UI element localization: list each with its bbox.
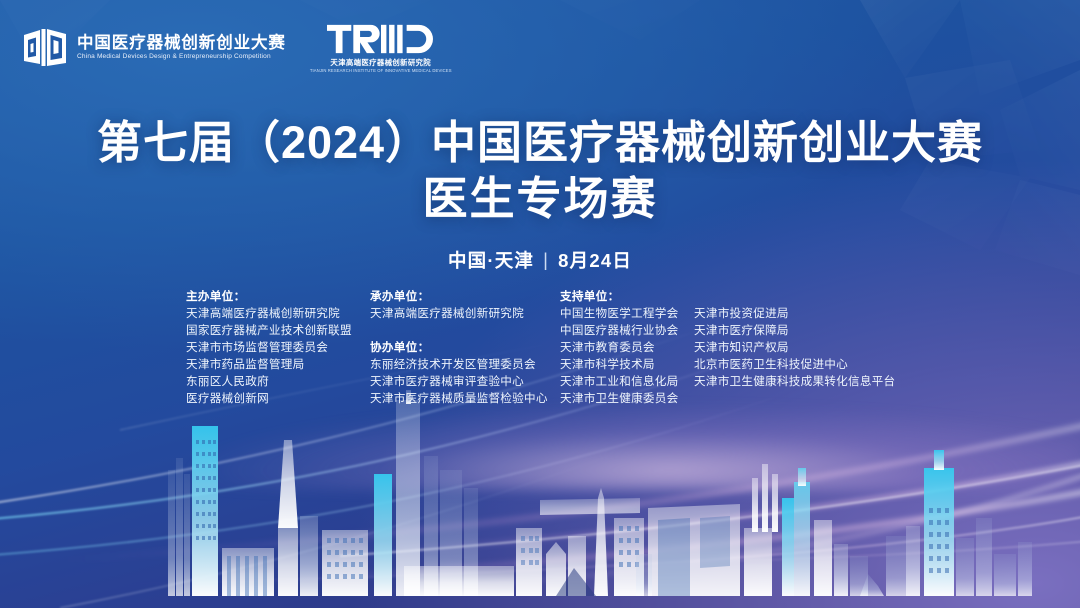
competition-logo-en: China Medical Devices Design & Entrepren… bbox=[77, 54, 290, 60]
org-item: 医疗器械创新网 bbox=[186, 390, 370, 407]
organizers-column-4: 天津市投资促进局 天津市医疗保障局 天津市知识产权局 北京市医药卫生科技促进中心… bbox=[694, 288, 904, 390]
competition-logo: 中国医疗器械创新创业大赛 China Medical Devices Desig… bbox=[22, 26, 286, 70]
org-item: 东丽区人民政府 bbox=[186, 373, 370, 390]
org-block: 天津市投资促进局 天津市医疗保障局 天津市知识产权局 北京市医药卫生科技促进中心… bbox=[694, 305, 904, 390]
event-date: 8月24日 bbox=[558, 247, 632, 273]
trimd-logo: 天津高端医疗器械创新研究院 TIANJIN RESEARCH INSTITUTE… bbox=[302, 22, 452, 74]
competition-logo-cn: 中国医疗器械创新创业大赛 bbox=[77, 35, 286, 52]
org-item: 国家医疗器械产业技术创新联盟 bbox=[186, 322, 370, 339]
org-item: 天津市卫生健康科技成果转化信息平台 bbox=[694, 373, 904, 390]
organizers-column-1: 主办单位： 天津高端医疗器械创新研究院 国家医疗器械产业技术创新联盟 天津市市场… bbox=[186, 288, 370, 407]
ground-glow bbox=[0, 400, 1080, 490]
org-item: 天津高端医疗器械创新研究院 bbox=[370, 305, 560, 322]
open-door-book-icon bbox=[22, 26, 68, 70]
trimd-logo-cn: 天津高端医疗器械创新研究院 bbox=[330, 59, 431, 66]
org-heading: 协办单位： bbox=[370, 339, 560, 356]
org-item: 中国医疗器械行业协会 bbox=[560, 322, 694, 339]
title-block: 第七届（2024）中国医疗器械创新创业大赛 医生专场赛 中国·天津 | 8月24… bbox=[0, 117, 1080, 273]
org-heading: 支持单位： bbox=[560, 288, 694, 305]
org-item: 天津市投资促进局 bbox=[694, 305, 904, 322]
org-item: 天津高端医疗器械创新研究院 bbox=[186, 305, 370, 322]
organizers-column-2: 承办单位： 天津高端医疗器械创新研究院 协办单位： 东丽经济技术开发区管理委员会… bbox=[370, 288, 560, 407]
org-item: 天津市科学技术局 bbox=[560, 356, 694, 373]
poster-canvas: 中国医疗器械创新创业大赛 China Medical Devices Desig… bbox=[0, 0, 1080, 608]
org-heading: 承办单位： bbox=[370, 288, 560, 305]
event-meta: 中国·天津 | 8月24日 bbox=[0, 247, 1080, 273]
org-item: 天津市知识产权局 bbox=[694, 339, 904, 356]
organizers-column-3: 支持单位： 中国生物医学工程学会 中国医疗器械行业协会 天津市教育委员会 天津市… bbox=[560, 288, 694, 407]
org-block: 协办单位： 东丽经济技术开发区管理委员会 天津市医疗器械审评查验中心 天津市医疗… bbox=[370, 339, 560, 407]
org-item: 天津市市场监督管理委员会 bbox=[186, 339, 370, 356]
org-item: 东丽经济技术开发区管理委员会 bbox=[370, 356, 560, 373]
org-item: 天津市工业和信息化局 bbox=[560, 373, 694, 390]
event-location: 中国·天津 bbox=[448, 247, 534, 273]
organizers-section: 主办单位： 天津高端医疗器械创新研究院 国家医疗器械产业技术创新联盟 天津市市场… bbox=[186, 288, 904, 407]
org-item: 天津市医疗器械质量监督检验中心 bbox=[370, 390, 560, 407]
org-item: 天津市药品监督管理局 bbox=[186, 356, 370, 373]
org-item: 天津市教育委员会 bbox=[560, 339, 694, 356]
org-item: 北京市医药卫生科技促进中心 bbox=[694, 356, 904, 373]
logo-bar: 中国医疗器械创新创业大赛 China Medical Devices Desig… bbox=[22, 22, 452, 74]
page-title-line2: 医生专场赛 bbox=[0, 173, 1080, 225]
org-heading: 主办单位： bbox=[186, 288, 370, 305]
org-block: 承办单位： 天津高端医疗器械创新研究院 bbox=[370, 288, 560, 322]
org-block: 支持单位： 中国生物医学工程学会 中国医疗器械行业协会 天津市教育委员会 天津市… bbox=[560, 288, 694, 407]
trimd-logo-en: TIANJIN RESEARCH INSTITUTE OF INNOVATIVE… bbox=[310, 69, 452, 73]
org-item: 天津市医疗器械审评查验中心 bbox=[370, 373, 560, 390]
org-block: 主办单位： 天津高端医疗器械创新研究院 国家医疗器械产业技术创新联盟 天津市市场… bbox=[186, 288, 370, 407]
org-item: 中国生物医学工程学会 bbox=[560, 305, 694, 322]
city-skyline-silhouette bbox=[0, 378, 1080, 608]
page-title-line1: 第七届（2024）中国医疗器械创新创业大赛 bbox=[0, 117, 1080, 169]
org-item: 天津市卫生健康委员会 bbox=[560, 390, 694, 407]
meta-separator: | bbox=[543, 249, 549, 271]
org-item: 天津市医疗保障局 bbox=[694, 322, 904, 339]
trimd-wordmark-icon bbox=[327, 22, 435, 56]
